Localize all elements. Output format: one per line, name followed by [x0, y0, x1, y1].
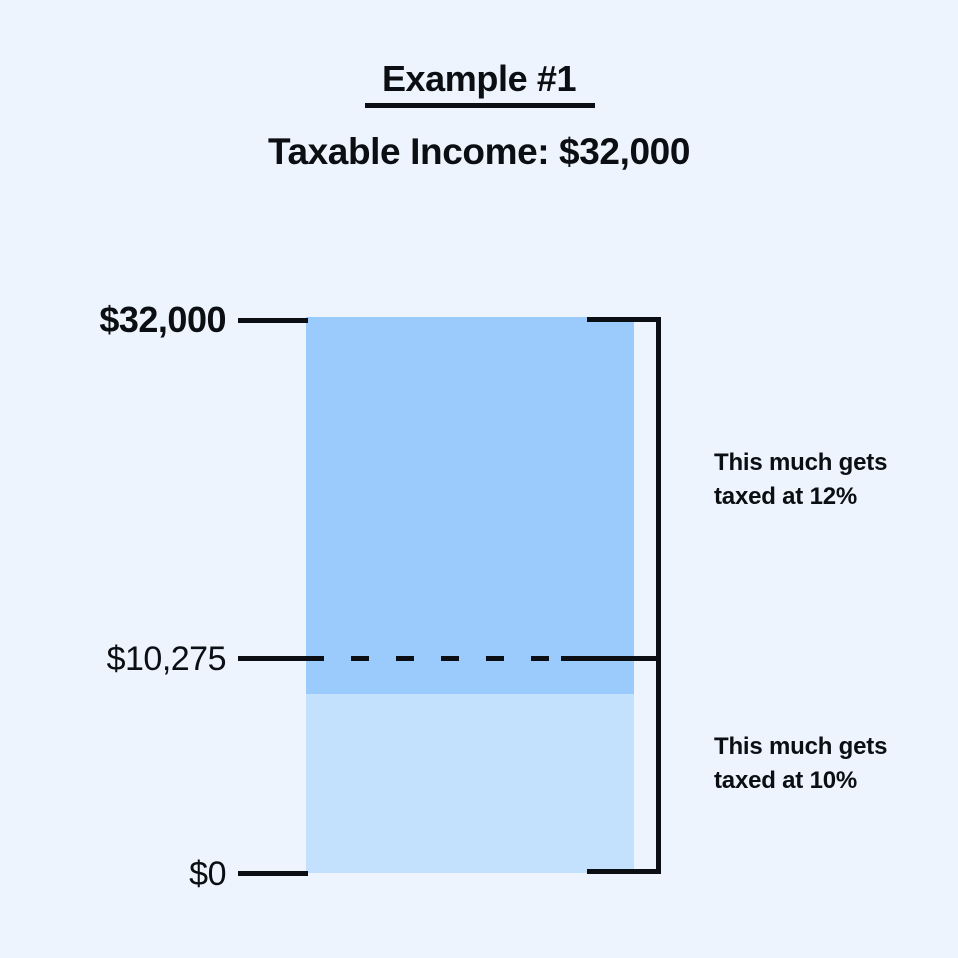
bracket-tick-middle	[561, 656, 661, 661]
bar-segment-10-percent	[306, 694, 634, 873]
axis-label-top: $32,000	[0, 298, 226, 342]
bracket-tick-bottom	[587, 869, 661, 874]
axis-label-middle: $10,275	[0, 637, 226, 681]
bracket-tick-top	[587, 317, 661, 322]
page-title: Example #1	[0, 57, 958, 101]
leader-line-bottom	[238, 871, 308, 876]
annotation-12-percent: This much gets taxed at 12%	[714, 446, 946, 514]
stacked-bar	[306, 317, 634, 873]
bar-segment-12-percent	[306, 317, 634, 694]
page-subtitle: Taxable Income: $32,000	[0, 128, 958, 176]
leader-line-top	[238, 318, 308, 323]
infographic-canvas: Example #1 Taxable Income: $32,000 $32,0…	[0, 0, 958, 958]
leader-line-middle	[238, 656, 308, 661]
annotation-10-percent: This much gets taxed at 10%	[714, 730, 946, 798]
title-underline-rule	[365, 103, 595, 108]
bracket-divider-dashed-line	[306, 656, 576, 661]
bracket-vertical-spine	[656, 317, 661, 874]
axis-label-bottom: $0	[0, 852, 226, 896]
